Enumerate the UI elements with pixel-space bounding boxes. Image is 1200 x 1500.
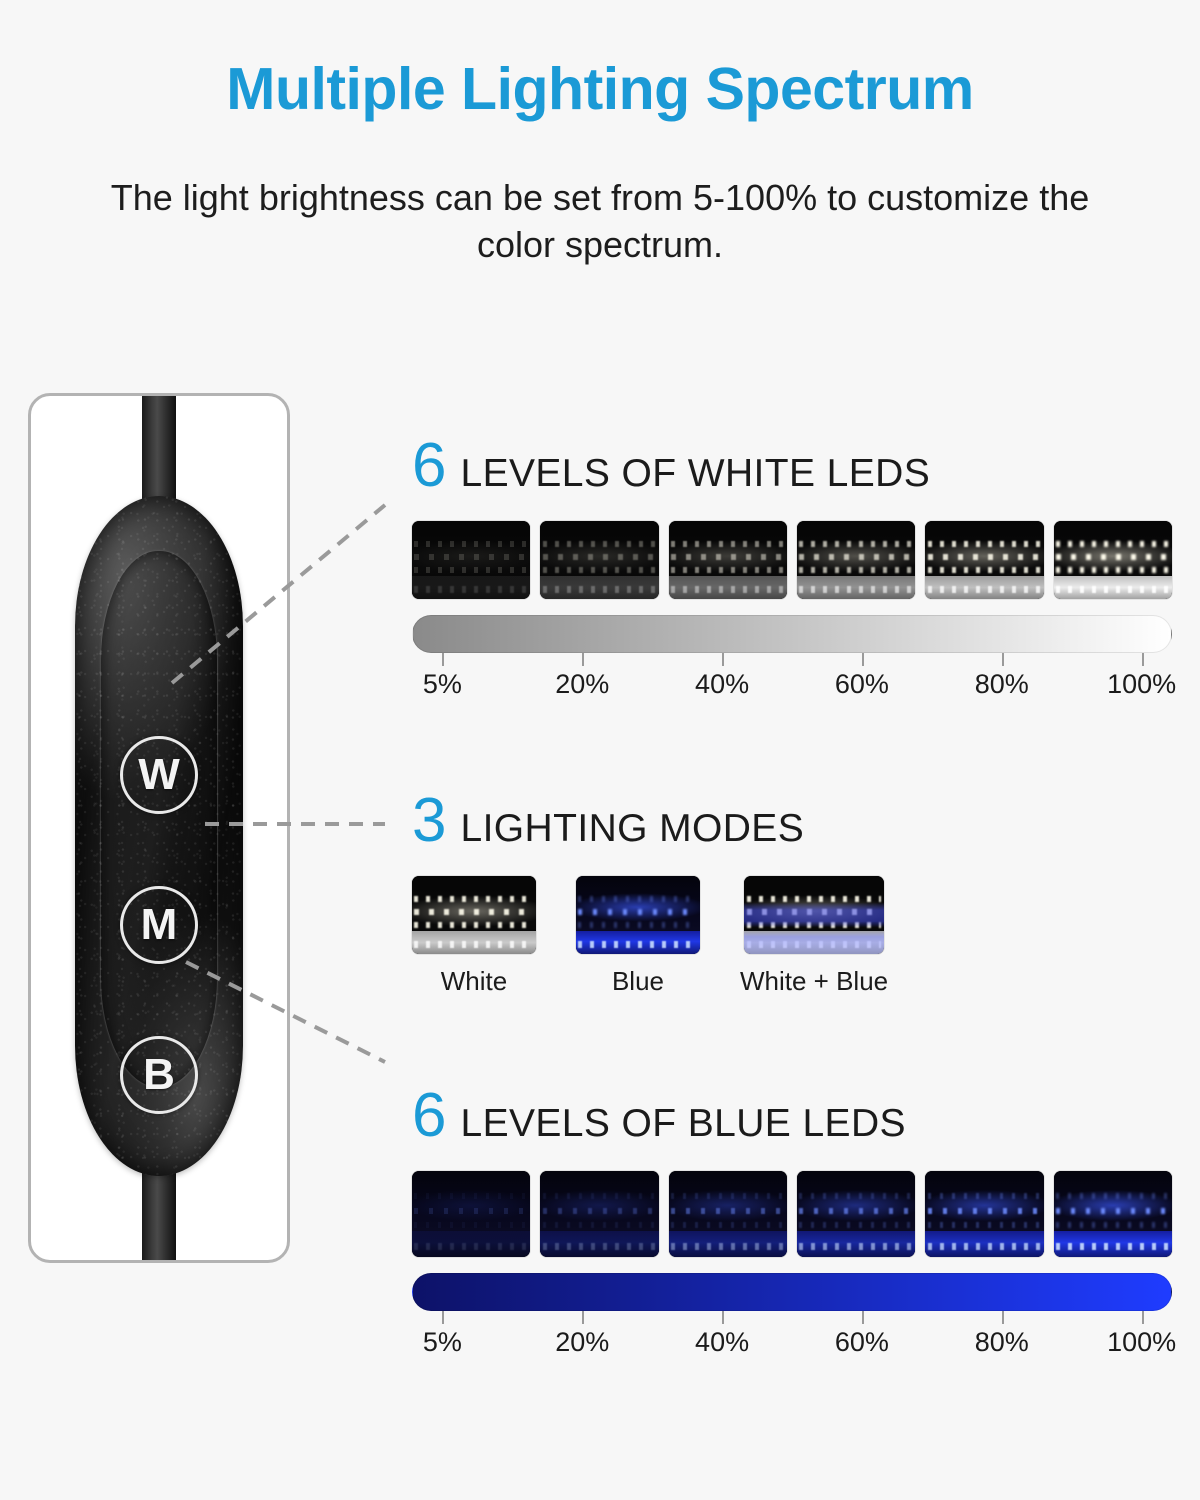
page-title: Multiple Lighting Spectrum [0,60,1200,119]
swatch-led-row [1056,541,1170,547]
swatch-led-rows [925,541,1043,575]
swatch-led-rows [925,1193,1043,1231]
swatch-led-row [543,541,657,547]
swatch-led-row [671,541,785,547]
mixed-blue-overlay [744,876,884,954]
swatch-led-row [578,909,697,915]
blue-levels-heading: 6 LEVELS OF BLUE LEDS [412,1085,1172,1147]
blue-bar-tick-labels: 5%20%40%60%80%100% [412,1325,1172,1365]
swatch-led-rows [669,541,787,575]
device-photo-frame: W M B [28,393,290,1263]
swatch-led-row [1056,1222,1170,1228]
swatch-led-row [414,909,533,915]
swatch-reflection-dots [671,1243,785,1250]
swatch-reflection-dots [543,1243,657,1250]
white-levels-label: LEVELS OF WHITE LEDS [460,454,930,493]
swatch-led-rows [412,896,536,930]
swatch-led-rows [412,1193,530,1231]
mode-label: White [441,966,507,997]
blue-level-swatch [925,1171,1043,1257]
swatch-reflection-dots [414,1243,528,1250]
cable-top [142,393,176,512]
mode-label: White + Blue [740,966,888,997]
white-level-swatch [1054,521,1172,599]
swatch-led-row [671,1208,785,1214]
bar-tick [582,1311,584,1324]
blue-level-swatch-row [412,1171,1172,1257]
swatch-led-row [414,922,533,928]
bar-tick [1002,653,1004,666]
swatch-led-row [578,896,697,902]
lighting-modes-row: WhiteBlueWhite + Blue [412,876,1172,997]
bar-tick-label: 80% [975,669,1029,700]
swatch-led-row [799,1193,913,1199]
controller-keypad [100,550,218,1088]
swatch-reflection-dots [928,586,1042,593]
lighting-mode-item[interactable]: White + Blue [740,876,888,997]
white-level-swatch [797,521,915,599]
swatch-led-row [928,554,1042,560]
white-level-swatch [925,521,1043,599]
swatch-led-row [928,541,1042,547]
swatch-led-row [543,1193,657,1199]
bar-tick [582,653,584,666]
bar-tick-label: 5% [423,669,462,700]
swatch-led-row [578,922,697,928]
swatch-led-row [799,554,913,560]
bar-tick [1002,1311,1004,1324]
page-subtitle: The light brightness can be set from 5-1… [100,175,1100,269]
lighting-mode-item[interactable]: White [412,876,536,997]
swatch-led-rows [1054,541,1172,575]
bar-tick-label: 40% [695,669,749,700]
swatch-led-row [671,567,785,573]
white-bar-tick-labels: 5%20%40%60%80%100% [412,667,1172,707]
swatch-led-row [1056,1208,1170,1214]
white-level-swatch-row [412,521,1172,599]
swatch-led-row [799,541,913,547]
bar-tick-label: 5% [423,1327,462,1358]
swatch-led-rows [540,541,658,575]
swatch-led-rows [669,1193,787,1231]
section-lighting-modes: 3 LIGHTING MODES WhiteBlueWhite + Blue [412,790,1172,997]
swatch-led-rows [540,1193,658,1231]
blue-levels-count: 6 [412,1085,446,1147]
swatch-led-rows [797,541,915,575]
bar-tick-label: 100% [1107,669,1176,700]
swatch-led-row [414,541,528,547]
white-gradient-bar [412,615,1172,653]
white-levels-count: 6 [412,435,446,497]
bar-tick-label: 100% [1107,1327,1176,1358]
section-white-levels: 6 LEVELS OF WHITE LEDS 5%20%40%60%80%100… [412,435,1172,707]
mode-swatch-white-blue [744,876,884,954]
blue-level-swatch [412,1171,530,1257]
swatch-led-row [414,554,528,560]
swatch-reflection-dots [414,586,528,593]
swatch-led-row [1056,554,1170,560]
swatch-led-row [928,1208,1042,1214]
swatch-led-row [928,1193,1042,1199]
bar-tick [1142,1311,1144,1324]
swatch-reflection-dots [1056,1243,1170,1250]
swatch-reflection-dots [799,1243,913,1250]
swatch-led-row [414,1208,528,1214]
lighting-modes-heading: 3 LIGHTING MODES [412,790,1172,852]
white-level-swatch [669,521,787,599]
swatch-reflection-dots [414,941,533,948]
button-blue[interactable]: B [120,1036,198,1114]
swatch-led-row [1056,567,1170,573]
bar-tick [862,653,864,666]
bar-tick [722,1311,724,1324]
swatch-led-rows [412,541,530,575]
swatch-reflection-dots [671,586,785,593]
button-white[interactable]: W [120,736,198,814]
bar-tick [442,653,444,666]
bar-tick-label: 40% [695,1327,749,1358]
lighting-modes-count: 3 [412,790,446,852]
bar-tick [442,1311,444,1324]
bar-tick-label: 60% [835,1327,889,1358]
white-bar-ticks [412,653,1172,667]
swatch-reflection-dots [799,586,913,593]
swatch-led-row [414,1222,528,1228]
swatch-led-rows [576,896,700,930]
swatch-led-row [414,1193,528,1199]
blue-brightness-bar: 5%20%40%60%80%100% [412,1273,1172,1365]
swatch-led-row [671,1222,785,1228]
blue-levels-label: LEVELS OF BLUE LEDS [460,1104,905,1143]
bar-tick [862,1311,864,1324]
blue-gradient-bar [412,1273,1172,1311]
swatch-led-row [799,1222,913,1228]
swatch-led-rows [1054,1193,1172,1231]
white-brightness-bar: 5%20%40%60%80%100% [412,615,1172,707]
bar-tick-label: 60% [835,669,889,700]
swatch-reflection-dots [928,1243,1042,1250]
swatch-led-row [543,1222,657,1228]
swatch-led-row [414,896,533,902]
swatch-led-row [928,1222,1042,1228]
swatch-reflection-dots [1056,586,1170,593]
blue-level-swatch [797,1171,915,1257]
swatch-reflection-dots [578,941,697,948]
white-level-swatch [540,521,658,599]
bar-tick-label: 20% [555,1327,609,1358]
mode-label: Blue [612,966,664,997]
blue-level-swatch [1054,1171,1172,1257]
swatch-led-row [799,1208,913,1214]
swatch-led-row [1056,1193,1170,1199]
bar-tick [722,653,724,666]
blue-level-swatch [669,1171,787,1257]
swatch-led-row [671,1193,785,1199]
lighting-mode-item[interactable]: Blue [576,876,700,997]
swatch-led-row [671,554,785,560]
blue-level-swatch [540,1171,658,1257]
white-level-swatch [412,521,530,599]
swatch-led-row [543,567,657,573]
swatch-led-row [543,1208,657,1214]
mode-swatch-blue [576,876,700,954]
swatch-led-rows [797,1193,915,1231]
blue-bar-ticks [412,1311,1172,1325]
bar-tick-label: 80% [975,1327,1029,1358]
bar-tick-label: 20% [555,669,609,700]
button-mode[interactable]: M [120,886,198,964]
lighting-modes-label: LIGHTING MODES [460,809,804,848]
swatch-led-row [414,567,528,573]
white-levels-heading: 6 LEVELS OF WHITE LEDS [412,435,1172,497]
bar-tick [1142,653,1144,666]
swatch-led-row [543,554,657,560]
section-blue-levels: 6 LEVELS OF BLUE LEDS 5%20%40%60%80%100% [412,1085,1172,1365]
swatch-led-row [928,567,1042,573]
inline-controller-body: W M B [75,496,243,1176]
mode-swatch-white [412,876,536,954]
infographic-page: Multiple Lighting Spectrum The light bri… [0,0,1200,1500]
swatch-reflection-dots [543,586,657,593]
swatch-led-row [799,567,913,573]
